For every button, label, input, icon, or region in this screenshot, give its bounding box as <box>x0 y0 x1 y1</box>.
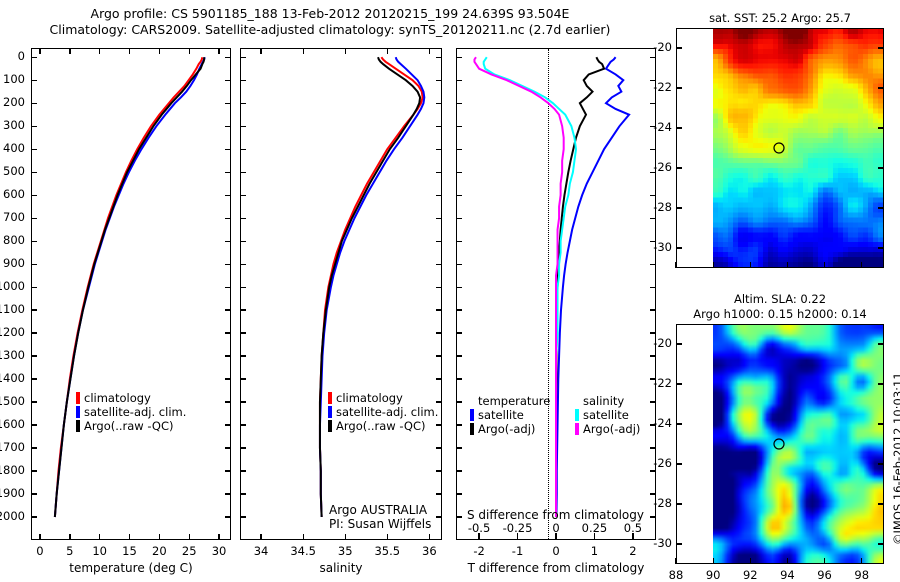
axis-tick <box>650 493 656 494</box>
axis-tick <box>240 378 246 379</box>
difference-line-3 <box>474 57 563 517</box>
profile-line-0 <box>320 57 423 517</box>
axis-tick <box>878 383 884 384</box>
legend-label: Argo(-adj) <box>478 422 535 436</box>
axis-tick <box>456 218 462 219</box>
axis-tick <box>225 516 231 517</box>
axis-tick <box>240 126 246 127</box>
salinity-curves <box>240 48 442 540</box>
axis-tick <box>240 195 246 196</box>
legend-item: Argo(-adj) <box>470 422 550 436</box>
axis-tick <box>31 264 37 265</box>
axis-tick <box>225 401 231 402</box>
axis-tick <box>878 503 884 504</box>
axis-tick <box>456 103 462 104</box>
axis-tick-label: 0.25 <box>572 521 616 535</box>
axis-tick <box>240 401 246 402</box>
axis-tick <box>456 57 462 58</box>
axis-tick <box>861 558 862 564</box>
axis-tick <box>456 378 462 379</box>
axis-tick <box>878 423 884 424</box>
axis-tick <box>436 172 442 173</box>
sla-map-title-line2: Argo h1000: 0.15 h2000: 0.14 <box>660 307 900 321</box>
axis-tick-label: 600 <box>0 187 25 201</box>
axis-tick-label: -24 <box>638 120 672 134</box>
axis-tick <box>878 247 884 248</box>
axis-tick <box>436 355 442 356</box>
axis-tick <box>225 378 231 379</box>
axis-tick <box>31 57 37 58</box>
axis-tick-label: 1700 <box>0 440 25 454</box>
axis-tick <box>878 47 884 48</box>
axis-tick <box>676 207 682 208</box>
axis-tick-label: 1300 <box>0 348 25 362</box>
difference-line-0 <box>556 57 629 517</box>
axis-tick <box>650 218 656 219</box>
axis-tick <box>31 103 37 104</box>
legend-swatch-climatology <box>76 392 80 404</box>
axis-tick <box>650 309 656 310</box>
axis-tick <box>387 48 388 54</box>
legend-swatch-temp-satellite <box>470 409 474 421</box>
axis-tick <box>31 493 37 494</box>
axis-tick <box>878 167 884 168</box>
axis-tick <box>429 534 430 540</box>
sla-map-title-line1: Altim. SLA: 0.22 <box>676 292 884 306</box>
salinity-difference-axis-label: S difference from climatology <box>467 508 644 522</box>
attribution-line2: PI: Susan Wijffels <box>329 517 431 531</box>
legend-label: satellite-adj. clim. <box>84 405 186 419</box>
axis-tick <box>240 80 246 81</box>
axis-tick <box>31 126 37 127</box>
axis-tick <box>225 241 231 242</box>
temperature-xaxis-label: temperature (deg C) <box>31 561 231 575</box>
axis-tick <box>676 463 682 464</box>
axis-tick <box>456 401 462 402</box>
axis-tick <box>436 195 442 196</box>
axis-tick <box>225 470 231 471</box>
axis-tick <box>31 195 37 196</box>
axis-tick <box>436 332 442 333</box>
axis-tick <box>650 332 656 333</box>
profile-line-1 <box>320 57 424 517</box>
page-title-line2: Climatology: CARS2009. Satellite-adjuste… <box>0 22 660 37</box>
axis-tick <box>39 534 40 540</box>
axis-tick <box>650 57 656 58</box>
axis-tick <box>429 48 430 54</box>
axis-tick <box>650 195 656 196</box>
axis-tick-label: 34 <box>239 544 283 558</box>
legend-header-label: salinity <box>583 394 624 408</box>
axis-tick <box>31 424 37 425</box>
difference-legend-salinity: salinity satellite Argo(-adj) <box>575 394 640 436</box>
axis-tick <box>436 103 442 104</box>
axis-tick <box>225 287 231 288</box>
axis-tick <box>713 558 714 564</box>
axis-tick-label: -30 <box>638 536 672 550</box>
profile-line-2 <box>320 57 420 517</box>
axis-tick <box>456 172 462 173</box>
argo-position-marker <box>774 439 784 449</box>
axis-tick <box>456 309 462 310</box>
axis-tick <box>31 401 37 402</box>
axis-tick-label: 30 <box>199 544 239 558</box>
axis-tick <box>676 423 682 424</box>
legend-header: salinity <box>575 394 640 408</box>
axis-tick <box>436 424 442 425</box>
axis-tick-label: 400 <box>0 141 25 155</box>
profile-line-0 <box>55 57 202 517</box>
axis-tick <box>159 534 160 540</box>
axis-tick-label: -26 <box>638 456 672 470</box>
legend-item: Argo(-adj) <box>575 422 640 436</box>
axis-tick-label: 34.5 <box>281 544 325 558</box>
axis-tick <box>99 48 100 54</box>
axis-tick-label: -26 <box>638 160 672 174</box>
axis-tick-label: -24 <box>638 416 672 430</box>
axis-tick-label: 1200 <box>0 325 25 339</box>
axis-tick <box>225 80 231 81</box>
axis-tick <box>436 149 442 150</box>
axis-tick <box>456 470 462 471</box>
axis-tick <box>676 343 682 344</box>
axis-tick-label: -1 <box>498 544 538 558</box>
axis-tick <box>436 447 442 448</box>
axis-tick-label: 1400 <box>0 371 25 385</box>
axis-tick-label: 1500 <box>0 394 25 408</box>
axis-tick <box>456 355 462 356</box>
axis-tick <box>650 355 656 356</box>
legend-swatch-temp-argo <box>470 423 474 435</box>
axis-tick <box>240 103 246 104</box>
page-title-line1: Argo profile: CS 5901185_188 13-Feb-2012… <box>0 6 660 21</box>
axis-tick <box>436 493 442 494</box>
axis-tick <box>240 264 246 265</box>
axis-tick <box>39 48 40 54</box>
axis-tick-label: -22 <box>638 376 672 390</box>
axis-tick <box>31 287 37 288</box>
temperature-legend: climatology satellite-adj. clim. Argo(..… <box>76 391 186 433</box>
axis-tick <box>650 401 656 402</box>
axis-tick <box>650 447 656 448</box>
axis-tick <box>31 355 37 356</box>
legend-item: Argo(..raw -QC) <box>328 419 438 433</box>
axis-tick <box>225 332 231 333</box>
axis-tick-label: 200 <box>0 95 25 109</box>
legend-header-label: temperature <box>478 394 550 408</box>
axis-tick <box>387 534 388 540</box>
axis-tick <box>345 48 346 54</box>
axis-tick <box>31 447 37 448</box>
axis-tick <box>240 241 246 242</box>
sst-map-title: sat. SST: 25.2 Argo: 25.7 <box>676 11 884 25</box>
axis-tick <box>69 534 70 540</box>
axis-tick <box>31 80 37 81</box>
axis-tick <box>129 48 130 54</box>
axis-tick <box>225 309 231 310</box>
legend-item: satellite <box>470 408 550 422</box>
axis-tick-label: 900 <box>0 256 25 270</box>
axis-tick <box>456 241 462 242</box>
axis-tick <box>436 401 442 402</box>
axis-tick <box>31 309 37 310</box>
axis-tick <box>650 516 656 517</box>
axis-tick <box>861 262 862 268</box>
axis-tick <box>240 287 246 288</box>
legend-label: satellite-adj. clim. <box>336 405 438 419</box>
credit-text: ©IMOS 16-Feb-2012 10:03:11 <box>891 372 900 545</box>
axis-tick <box>676 87 682 88</box>
axis-tick <box>31 516 37 517</box>
axis-tick <box>31 218 37 219</box>
axis-tick <box>99 534 100 540</box>
axis-tick <box>240 57 246 58</box>
axis-tick-label: 1000 <box>0 279 25 293</box>
axis-tick <box>676 47 682 48</box>
axis-tick <box>878 127 884 128</box>
axis-tick <box>675 558 676 564</box>
profile-line-2 <box>55 57 204 517</box>
axis-tick-label: 800 <box>0 233 25 247</box>
axis-tick <box>650 470 656 471</box>
axis-tick <box>303 48 304 54</box>
axis-tick <box>436 516 442 517</box>
axis-tick <box>31 241 37 242</box>
axis-tick <box>240 218 246 219</box>
axis-tick <box>456 264 462 265</box>
axis-tick-label: 100 <box>0 72 25 86</box>
axis-tick-label: 500 <box>0 164 25 178</box>
legend-item: satellite-adj. clim. <box>328 405 438 419</box>
axis-tick <box>225 57 231 58</box>
axis-tick <box>240 332 246 333</box>
argo-position-marker <box>774 143 784 153</box>
axis-tick <box>436 264 442 265</box>
axis-tick <box>676 503 682 504</box>
axis-tick <box>31 149 37 150</box>
axis-tick <box>436 80 442 81</box>
legend-label: satellite <box>478 408 524 422</box>
attribution-line1: Argo AUSTRALIA <box>329 503 427 517</box>
axis-tick-label: 1800 <box>0 463 25 477</box>
legend-item: satellite-adj. clim. <box>76 405 186 419</box>
axis-tick <box>878 543 884 544</box>
axis-tick <box>676 383 682 384</box>
axis-tick-label: 0.5 <box>611 521 655 535</box>
axis-tick <box>824 262 825 268</box>
legend-item: climatology <box>76 391 186 405</box>
temperature-difference-axis-label: T difference from climatology <box>456 561 656 575</box>
axis-tick <box>676 543 682 544</box>
axis-tick-label: 700 <box>0 210 25 224</box>
axis-tick-label: -0.25 <box>496 521 540 535</box>
axis-tick <box>787 262 788 268</box>
axis-tick <box>650 103 656 104</box>
axis-tick-label: 1100 <box>0 302 25 316</box>
salinity-xaxis-label: salinity <box>240 561 442 575</box>
axis-tick <box>436 309 442 310</box>
legend-label: Argo(-adj) <box>583 422 640 436</box>
axis-tick <box>676 247 682 248</box>
legend-item: satellite <box>575 408 640 422</box>
axis-tick-label: 0 <box>536 544 576 558</box>
axis-tick-label: -30 <box>638 240 672 254</box>
axis-tick <box>436 126 442 127</box>
axis-tick-label: 300 <box>0 118 25 132</box>
axis-tick <box>878 87 884 88</box>
axis-tick <box>225 172 231 173</box>
axis-tick <box>456 424 462 425</box>
axis-tick <box>456 80 462 81</box>
axis-tick <box>260 534 261 540</box>
axis-tick <box>240 470 246 471</box>
axis-tick <box>676 127 682 128</box>
axis-tick-label: -0.5 <box>457 521 501 535</box>
axis-tick-label: -20 <box>638 40 672 54</box>
legend-item: climatology <box>328 391 438 405</box>
axis-tick <box>436 218 442 219</box>
axis-tick <box>878 343 884 344</box>
axis-tick <box>824 558 825 564</box>
axis-tick <box>240 355 246 356</box>
legend-swatch-sal-satellite <box>575 409 579 421</box>
axis-tick <box>675 262 676 268</box>
axis-tick <box>31 332 37 333</box>
axis-tick <box>225 447 231 448</box>
axis-tick <box>240 424 246 425</box>
axis-tick-label: 0 <box>0 49 25 63</box>
axis-tick <box>436 57 442 58</box>
axis-tick <box>129 534 130 540</box>
axis-tick <box>225 424 231 425</box>
axis-tick <box>750 558 751 564</box>
axis-tick <box>31 378 37 379</box>
sst-map-marker-layer <box>676 28 884 268</box>
axis-tick-label: 36 <box>407 544 451 558</box>
axis-tick <box>456 493 462 494</box>
axis-tick <box>456 126 462 127</box>
axis-tick <box>240 493 246 494</box>
axis-tick-label: 2000 <box>0 509 25 523</box>
axis-tick <box>456 149 462 150</box>
difference-legend-temperature: temperature satellite Argo(-adj) <box>470 394 550 436</box>
legend-header: temperature <box>470 394 550 408</box>
axis-tick <box>189 48 190 54</box>
axis-tick <box>878 207 884 208</box>
axis-tick <box>240 172 246 173</box>
axis-tick <box>260 48 261 54</box>
axis-tick <box>650 287 656 288</box>
salinity-legend: climatology satellite-adj. clim. Argo(..… <box>328 391 438 433</box>
axis-tick <box>650 264 656 265</box>
axis-tick-label: -28 <box>638 200 672 214</box>
axis-tick <box>456 195 462 196</box>
axis-tick <box>676 167 682 168</box>
axis-tick <box>240 447 246 448</box>
axis-tick <box>436 287 442 288</box>
axis-tick <box>787 558 788 564</box>
axis-tick <box>225 149 231 150</box>
profile-line-1 <box>55 57 205 517</box>
legend-swatch-argo-raw <box>328 420 332 432</box>
difference-curves <box>456 48 656 540</box>
axis-tick <box>240 309 246 310</box>
legend-swatch-satellite-adj <box>328 406 332 418</box>
axis-tick <box>69 48 70 54</box>
legend-label: climatology <box>84 391 151 405</box>
axis-tick <box>436 378 442 379</box>
axis-tick-label: 1 <box>574 544 614 558</box>
axis-tick-label: -28 <box>638 496 672 510</box>
axis-tick <box>225 218 231 219</box>
axis-tick-label: 35 <box>323 544 367 558</box>
axis-tick <box>456 287 462 288</box>
axis-tick-label: 35.5 <box>365 544 409 558</box>
axis-tick-label: 1900 <box>0 486 25 500</box>
axis-tick <box>750 262 751 268</box>
axis-tick <box>240 516 246 517</box>
axis-tick <box>31 172 37 173</box>
axis-tick-label: -2 <box>459 544 499 558</box>
sla-map-marker-layer <box>676 324 884 564</box>
legend-swatch-climatology <box>328 392 332 404</box>
legend-swatch-argo-raw <box>76 420 80 432</box>
legend-swatch-satellite-adj <box>76 406 80 418</box>
axis-tick-label: -20 <box>638 336 672 350</box>
axis-tick <box>650 149 656 150</box>
axis-tick <box>303 534 304 540</box>
axis-tick <box>225 195 231 196</box>
axis-tick <box>189 534 190 540</box>
axis-tick <box>456 516 462 517</box>
axis-tick <box>218 48 219 54</box>
axis-tick <box>456 332 462 333</box>
temperature-curves <box>31 48 231 540</box>
axis-tick-label: 1600 <box>0 417 25 431</box>
legend-item: Argo(..raw -QC) <box>76 419 186 433</box>
legend-swatch-sal-argo <box>575 423 579 435</box>
legend-label: Argo(..raw -QC) <box>336 419 426 433</box>
axis-tick <box>436 470 442 471</box>
axis-tick <box>225 493 231 494</box>
legend-label: satellite <box>583 408 629 422</box>
legend-label: Argo(..raw -QC) <box>84 419 174 433</box>
axis-tick <box>436 241 442 242</box>
axis-tick <box>456 447 462 448</box>
axis-tick <box>31 470 37 471</box>
axis-tick <box>225 264 231 265</box>
axis-tick <box>225 355 231 356</box>
axis-tick <box>713 262 714 268</box>
legend-label: climatology <box>336 391 403 405</box>
axis-tick <box>345 534 346 540</box>
axis-tick <box>225 126 231 127</box>
axis-tick <box>218 534 219 540</box>
axis-tick-label: -22 <box>638 80 672 94</box>
axis-tick <box>159 48 160 54</box>
axis-tick <box>878 463 884 464</box>
axis-tick-label: 0 <box>534 521 578 535</box>
axis-tick <box>225 103 231 104</box>
axis-tick <box>240 149 246 150</box>
